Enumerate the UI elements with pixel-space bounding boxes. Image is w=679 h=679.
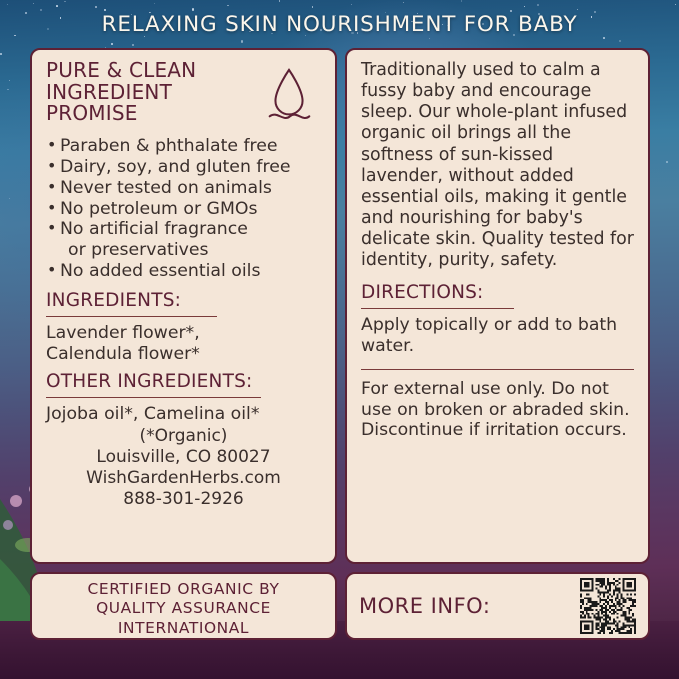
certified-line-2: QUALITY ASSURANCE — [32, 599, 335, 618]
promise-list: Paraben & phthalate free Dairy, soy, and… — [46, 136, 321, 282]
more-info-label: MORE INFO: — [359, 594, 570, 618]
directions-text: Apply topically or add to bath water. — [361, 315, 634, 357]
certified-organic-panel: CERTIFIED ORGANIC BY QUALITY ASSURANCE I… — [30, 572, 337, 640]
promise-title-line-2: INGREDIENT — [46, 82, 246, 104]
certified-line-3: INTERNATIONAL — [32, 619, 335, 638]
list-item: No added essential oils — [46, 261, 321, 282]
certified-line-1: CERTIFIED ORGANIC BY — [32, 580, 335, 599]
company-website: WishGardenHerbs.com — [46, 468, 321, 489]
list-item: Paraben & phthalate free — [46, 136, 321, 157]
promise-title-line-3: PROMISE — [46, 103, 246, 125]
other-ingredients-heading: OTHER INGREDIENTS: — [46, 372, 321, 392]
ingredients-line-1: Lavender flower*, — [46, 323, 321, 344]
organic-note: (*Organic) — [46, 426, 321, 447]
divider — [46, 316, 217, 317]
other-ingredients-text: Jojoba oil*, Camelina oil* — [46, 404, 321, 425]
product-description: Traditionally used to calm a fussy baby … — [361, 60, 634, 271]
list-item: No petroleum or GMOs — [46, 199, 321, 220]
ingredients-line-2: Calendula flower* — [46, 344, 321, 365]
divider — [46, 397, 261, 398]
directions-heading: DIRECTIONS: — [361, 283, 634, 303]
description-panel: Traditionally used to calm a fussy baby … — [345, 48, 650, 564]
label-artwork: RELAXING SKIN NOURISHMENT FOR BABY PURE … — [0, 0, 679, 679]
divider — [361, 369, 634, 370]
list-item: No artificial fragrance — [46, 219, 321, 240]
ingredients-heading: INGREDIENTS: — [46, 291, 321, 311]
company-phone: 888-301-2926 — [46, 489, 321, 510]
water-droplet-icon — [267, 66, 311, 126]
divider — [361, 308, 514, 309]
page-title: RELAXING SKIN NOURISHMENT FOR BABY — [0, 12, 679, 37]
more-info-panel: MORE INFO: — [345, 572, 650, 640]
list-item: Never tested on animals — [46, 178, 321, 199]
company-address: Louisville, CO 80027 — [46, 447, 321, 468]
warning-text: For external use only. Do not use on bro… — [361, 379, 634, 441]
list-item: or preservatives — [46, 240, 321, 261]
list-item: Dairy, soy, and gluten free — [46, 157, 321, 178]
promise-title-line-1: PURE & CLEAN — [46, 60, 246, 82]
pure-and-clean-panel: PURE & CLEAN INGREDIENT PROMISE Paraben … — [30, 48, 337, 564]
qr-code-icon[interactable] — [580, 578, 636, 634]
